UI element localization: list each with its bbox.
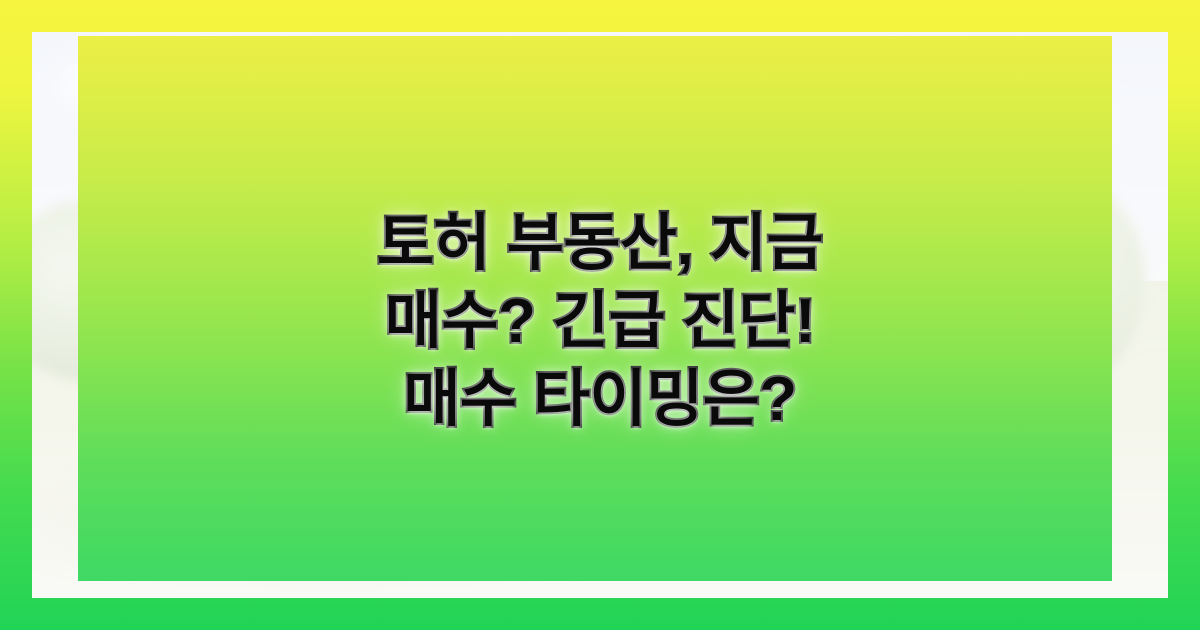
page-title: 토허 부동산, 지금 매수? 긴급 진단! 매수 타이밍은? bbox=[377, 205, 823, 439]
headline-container: 토허 부동산, 지금 매수? 긴급 진단! 매수 타이밍은? bbox=[0, 0, 1200, 630]
thumbnail-canvas: 토허 부동산, 지금 매수? 긴급 진단! 매수 타이밍은? bbox=[0, 0, 1200, 630]
headline-line-2: 매수? 긴급 진단! bbox=[377, 283, 823, 361]
headline-line-3: 매수 타이밍은? bbox=[377, 361, 823, 439]
headline-line-1: 토허 부동산, 지금 bbox=[377, 205, 823, 283]
